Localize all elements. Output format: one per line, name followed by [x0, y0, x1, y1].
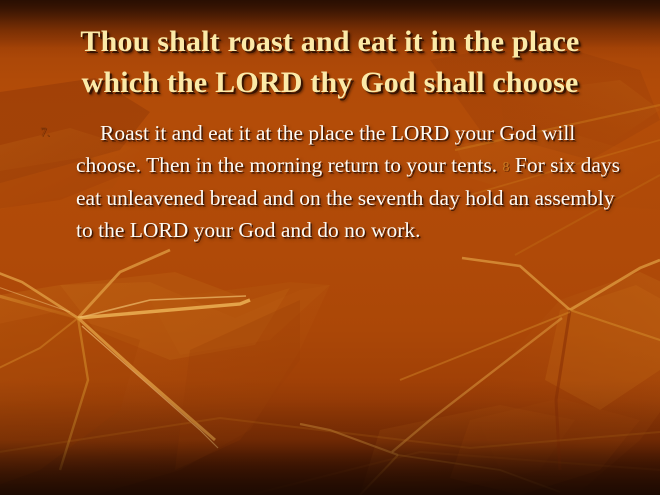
slide-body: 7. Roast it and eat it at the place the … [34, 118, 634, 246]
slide-title-line-2: which the LORD thy God shall choose [22, 62, 638, 103]
list-item-text: Roast it and eat it at the place the LOR… [76, 118, 634, 246]
presentation-slide: Thou shalt roast and eat it in the place… [0, 0, 660, 495]
slide-title-line-1: Thou shalt roast and eat it in the place [22, 21, 638, 62]
slide-title: Thou shalt roast and eat it in the place… [22, 21, 638, 103]
verse-number: 8 [503, 160, 510, 175]
list-item-marker: 7. [40, 124, 50, 140]
body-text-segment-1: Roast it and eat it at the place the LOR… [76, 121, 575, 177]
list-item: 7. Roast it and eat it at the place the … [34, 118, 634, 246]
